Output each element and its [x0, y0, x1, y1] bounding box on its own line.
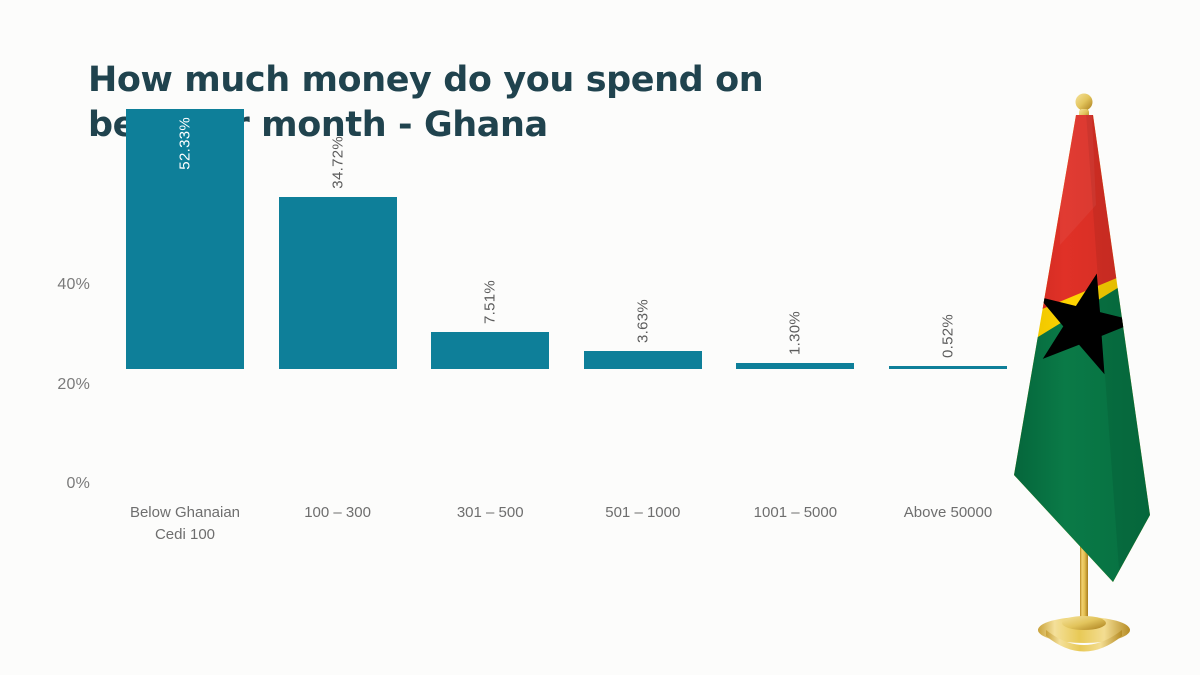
x-axis-category-label: Below Ghanaian Cedi 100: [105, 502, 265, 546]
x-axis-category-label: 1001 – 5000: [715, 502, 875, 524]
bar-column[interactable]: 34.72%: [279, 197, 397, 369]
bar-value-label: 7.51%: [482, 280, 499, 324]
bar-value-label: 34.72%: [329, 136, 346, 189]
y-axis-tick-20pct: 20%: [30, 376, 90, 394]
y-axis-tick-0pct: 0%: [30, 475, 90, 493]
bar-column[interactable]: 0.52%: [889, 366, 1007, 369]
bar-column[interactable]: 3.63%: [584, 351, 702, 369]
bar[interactable]: [584, 351, 702, 369]
bar[interactable]: [431, 332, 549, 369]
x-axis-category-label: 100 – 300: [258, 502, 418, 524]
x-axis-category-label: 301 – 500: [410, 502, 570, 524]
bar-column[interactable]: 7.51%: [431, 332, 549, 369]
bar[interactable]: [279, 197, 397, 369]
y-axis-tick-40pct: 40%: [30, 276, 90, 294]
bar-value-label: 1.30%: [787, 311, 804, 355]
y-axis: 0%20%40%: [20, 0, 90, 560]
bar[interactable]: [889, 366, 1007, 369]
x-axis-category-label: 501 – 1000: [563, 502, 723, 524]
bar-value-label: 3.63%: [634, 299, 651, 343]
bar-column[interactable]: 52.33%: [126, 109, 244, 369]
bar-column[interactable]: 1.30%: [736, 363, 854, 369]
slide-canvas: How much money do you spend on bets per …: [0, 0, 1200, 675]
ghana-flag-graphic: [1000, 85, 1200, 655]
bar-chart: 0%20%40% 52.33%34.72%7.51%3.63%1.30%0.52…: [0, 0, 1010, 560]
bar-value-label: 52.33%: [177, 117, 194, 170]
bar[interactable]: [736, 363, 854, 369]
bar-value-label: 0.52%: [940, 314, 957, 358]
